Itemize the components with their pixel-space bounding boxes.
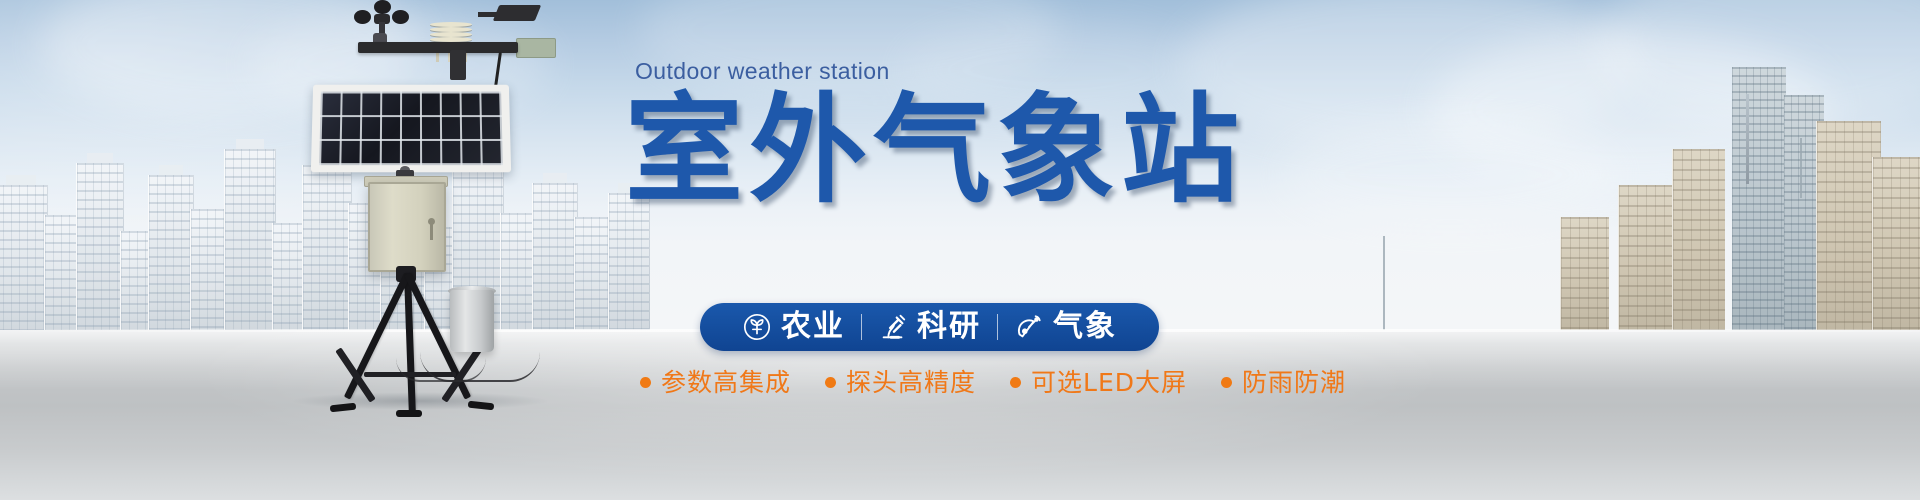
feature-label: 防雨防潮 <box>1242 370 1346 395</box>
control-cabinet <box>368 182 446 272</box>
eyebrow-text: Outdoor weather station <box>635 60 1425 83</box>
application-pill: 农业 科研 <box>700 303 1159 351</box>
office-towers-skyline <box>1500 60 1920 335</box>
pill-label: 科研 <box>917 312 981 342</box>
wind-vane <box>493 5 541 21</box>
bullet-dot-icon <box>825 377 836 388</box>
rain-gauge <box>450 290 494 352</box>
feature-label: 可选LED大屏 <box>1031 370 1187 395</box>
headline-block: Outdoor weather station 室外气象站 <box>625 60 1425 209</box>
solar-panel <box>311 85 511 173</box>
list-item: 防雨防潮 <box>1221 370 1346 395</box>
anemometer-cup <box>392 10 409 24</box>
tripod-foot <box>396 410 422 417</box>
feature-bullet-list: 参数高集成 探头高精度 可选LED大屏 防雨防潮 <box>640 370 1346 395</box>
bullet-dot-icon <box>1221 377 1232 388</box>
list-item: 参数高集成 <box>640 370 791 395</box>
page-title: 室外气象站 <box>625 91 1425 209</box>
tripod-leg <box>344 272 411 399</box>
power-cable <box>396 358 486 382</box>
pill-item-agriculture[interactable]: 农业 <box>726 312 861 342</box>
ground-vignette <box>0 330 1920 500</box>
weather-station-product <box>300 0 540 420</box>
bullet-dot-icon <box>1010 377 1021 388</box>
bullet-dot-icon <box>640 377 651 388</box>
list-item: 可选LED大屏 <box>1010 370 1187 395</box>
pill-item-meteorology[interactable]: 气象 <box>998 312 1133 342</box>
tripod-foot <box>468 401 495 411</box>
sensor-junction-box <box>516 38 556 58</box>
cross-arm <box>358 42 518 53</box>
feature-label: 参数高集成 <box>661 370 791 395</box>
tripod-foot <box>330 403 357 413</box>
pill-label: 农业 <box>781 312 845 342</box>
feature-label: 探头高精度 <box>846 370 976 395</box>
pill-item-research[interactable]: 科研 <box>862 312 997 342</box>
promo-banner: Outdoor weather station 室外气象站 农业 <box>0 0 1920 500</box>
list-item: 探头高精度 <box>825 370 976 395</box>
antenna-mast <box>1383 236 1385 332</box>
cross-arm-riser <box>450 50 466 80</box>
sprout-circle-icon <box>742 312 772 342</box>
microscope-icon <box>878 312 908 342</box>
anemometer-cup <box>374 0 391 14</box>
pill-label: 气象 <box>1053 312 1117 342</box>
satellite-dish-icon <box>1014 312 1044 342</box>
anemometer-cup <box>354 10 371 24</box>
cabinet-lock-shaft <box>430 224 433 240</box>
